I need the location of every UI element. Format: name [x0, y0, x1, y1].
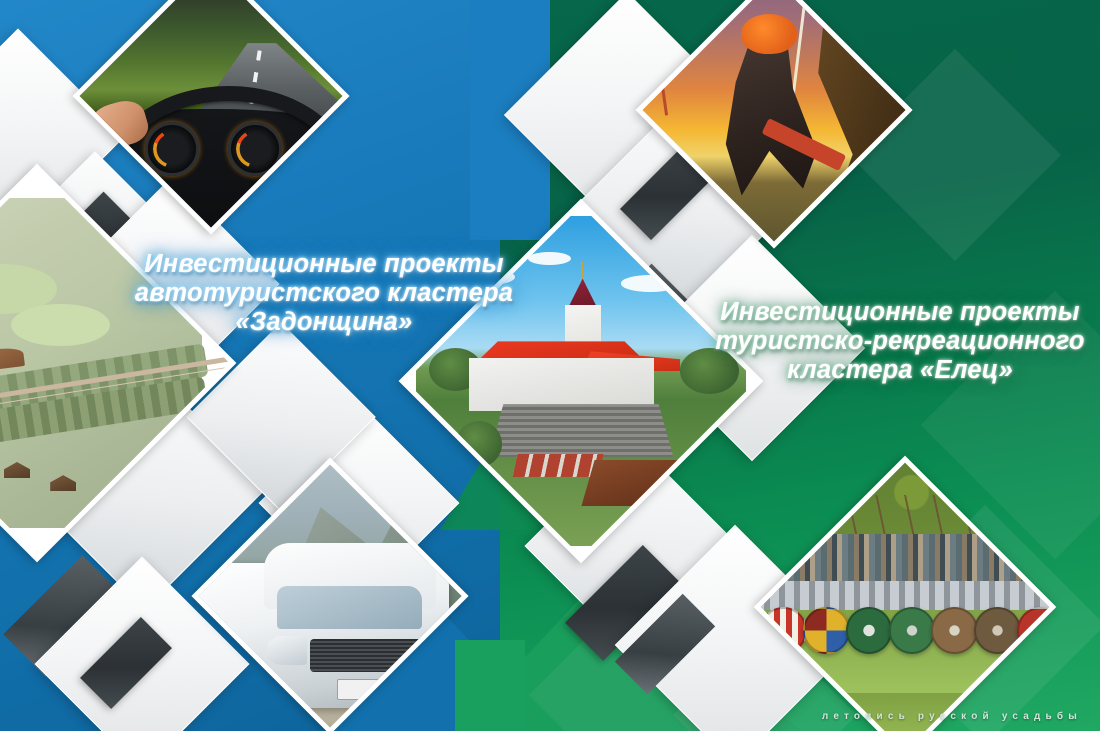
climber-figure — [718, 31, 817, 203]
title-left-line-3: «Задонщина» — [104, 308, 544, 337]
title-left-cluster: Инвестиционные проекты автотуристского к… — [104, 250, 544, 337]
helmets-row — [761, 581, 1049, 611]
shield-6 — [974, 607, 1021, 654]
van-windshield — [277, 586, 422, 629]
masterplan-field-2 — [11, 304, 110, 347]
green-wedge-bottom — [455, 640, 525, 731]
presentation-slide: Инвестиционные проекты автотуристского к… — [0, 0, 1100, 731]
amphitheatre-seating — [489, 404, 674, 457]
van-headlight — [267, 636, 307, 666]
title-right-line-1: Инвестиционные проекты — [690, 298, 1100, 327]
watermark-label: летопись русской усадьбы — [822, 711, 1082, 722]
title-right-line-2: туристско-рекреационного — [690, 327, 1100, 356]
masterplan-hut-2 — [50, 475, 76, 491]
speedometer-icon — [145, 122, 199, 176]
shield-4 — [889, 607, 936, 654]
shield-5 — [931, 607, 978, 654]
title-left-line-1: Инвестиционные проекты — [104, 250, 544, 279]
title-right-line-3: кластера «Елец» — [690, 356, 1100, 385]
shield-3 — [846, 607, 893, 654]
masterplan-pavilion — [0, 346, 25, 374]
title-right-cluster: Инвестиционные проекты туристско-рекреац… — [690, 298, 1100, 385]
title-left-line-2: автотуристского кластера — [104, 279, 544, 308]
shield-2 — [803, 607, 850, 654]
tachometer-icon — [228, 122, 282, 176]
climber-helmet — [741, 14, 797, 54]
masterplan-hut-1 — [4, 462, 30, 478]
main-building — [469, 358, 654, 411]
